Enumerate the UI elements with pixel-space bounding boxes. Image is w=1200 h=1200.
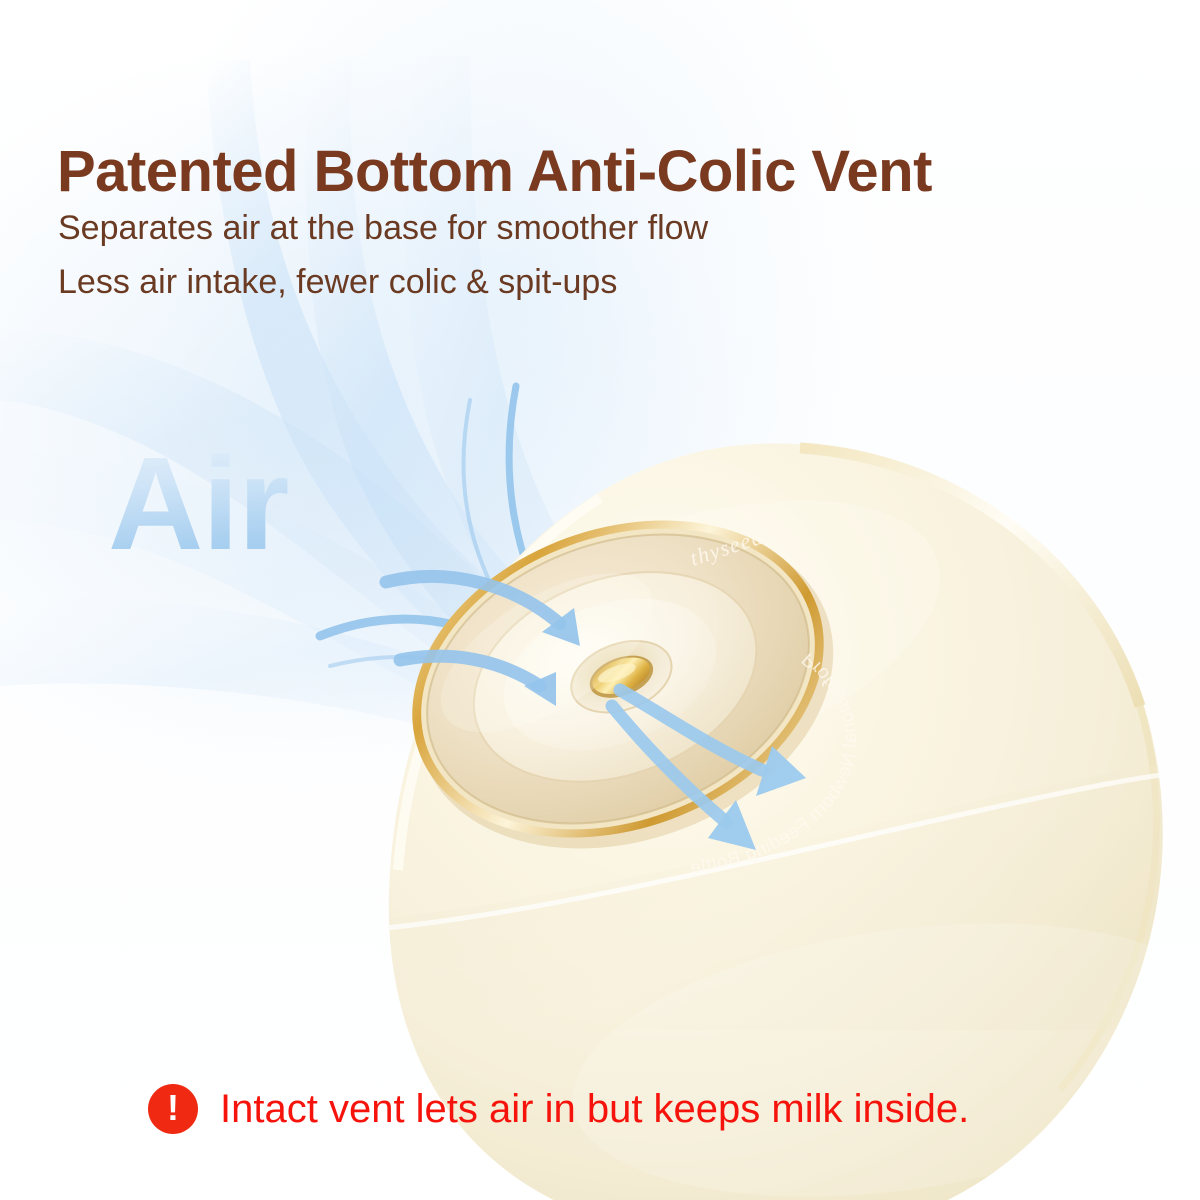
warning-callout: ! Intact vent lets air in but keeps milk… xyxy=(148,1084,969,1134)
exclamation-glyph: ! xyxy=(167,1090,179,1126)
warning-text: Intact vent lets air in but keeps milk i… xyxy=(220,1089,969,1129)
subtitle-line-1: Separates air at the base for smoother f… xyxy=(58,211,708,245)
page-title: Patented Bottom Anti-Colic Vent xyxy=(57,143,932,201)
product-feature-graphic: thyseed Professional Newborn Feeding Bot… xyxy=(0,0,1200,1200)
air-label: Air xyxy=(108,438,288,570)
subtitle-line-2: Less air intake, fewer colic & spit-ups xyxy=(58,265,617,299)
exclamation-circle-icon: ! xyxy=(148,1084,198,1134)
